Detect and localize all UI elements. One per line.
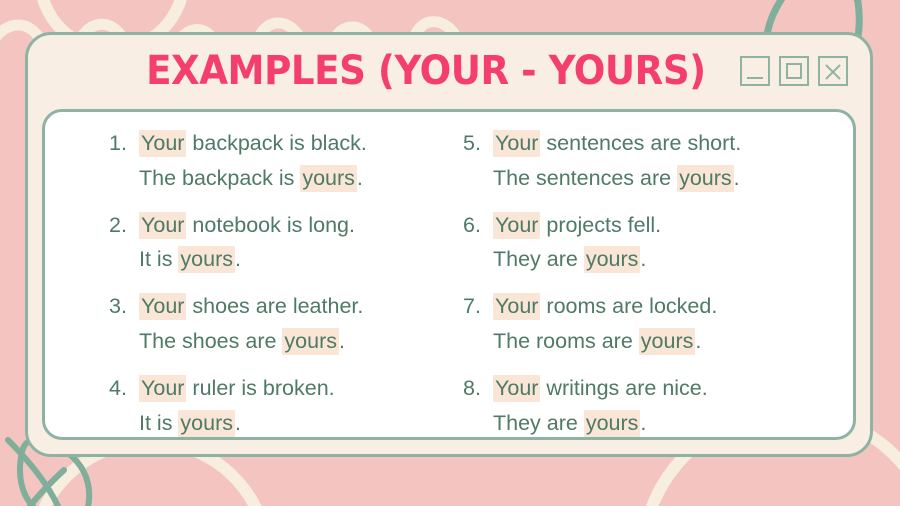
sentence-text: backpack is black. bbox=[186, 131, 366, 155]
example-line1: Your backpack is black. bbox=[139, 126, 445, 161]
highlighted-word: Your bbox=[139, 293, 186, 320]
highlighted-word: yours bbox=[639, 328, 696, 355]
example-line1: Your notebook is long. bbox=[139, 208, 445, 243]
example-item: 7.Your rooms are locked.The rooms are yo… bbox=[463, 289, 831, 359]
highlighted-word: yours bbox=[300, 165, 357, 192]
app-window: EXAMPLES (YOUR - YOURS) 1.Your backpack … bbox=[25, 32, 873, 457]
example-item: 1.Your backpack is black.The backpack is… bbox=[109, 126, 445, 196]
highlighted-word: yours bbox=[584, 246, 641, 273]
sentence-text: The rooms are bbox=[493, 329, 639, 353]
sentence-text: . bbox=[695, 329, 701, 353]
sentence-text: writings are nice. bbox=[540, 376, 707, 400]
window-titlebar: EXAMPLES (YOUR - YOURS) bbox=[28, 35, 870, 109]
example-line1: Your rooms are locked. bbox=[493, 289, 831, 324]
minimize-icon[interactable] bbox=[740, 56, 770, 86]
sentence-text: . bbox=[235, 247, 241, 271]
sentence-text: . bbox=[339, 329, 345, 353]
window-controls bbox=[740, 56, 848, 88]
highlighted-word: yours bbox=[584, 410, 641, 437]
examples-columns: 1.Your backpack is black.The backpack is… bbox=[63, 126, 835, 427]
example-line2: It is yours. bbox=[139, 242, 445, 277]
example-line2: They are yours. bbox=[493, 242, 831, 277]
example-number: 6. bbox=[463, 208, 481, 243]
example-line1: Your projects fell. bbox=[493, 208, 831, 243]
highlighted-word: yours bbox=[282, 328, 339, 355]
example-item: 8.Your writings are nice.They are yours. bbox=[463, 371, 831, 440]
example-line1: Your writings are nice. bbox=[493, 371, 831, 406]
sentence-text: . bbox=[734, 166, 740, 190]
example-item: 2.Your notebook is long.It is yours. bbox=[109, 208, 445, 278]
sentence-text: The shoes are bbox=[139, 329, 282, 353]
maximize-icon[interactable] bbox=[779, 56, 809, 86]
sentence-text: ruler is broken. bbox=[186, 376, 334, 400]
highlighted-word: Your bbox=[493, 375, 540, 402]
sentence-text: It is bbox=[139, 247, 178, 271]
highlighted-word: Your bbox=[493, 130, 540, 157]
sentence-text: sentences are short. bbox=[540, 131, 741, 155]
sentence-text: It is bbox=[139, 411, 178, 435]
highlighted-word: Your bbox=[139, 130, 186, 157]
sentence-text: They are bbox=[493, 247, 584, 271]
example-number: 4. bbox=[109, 371, 127, 406]
example-number: 5. bbox=[463, 126, 481, 161]
example-line1: Your ruler is broken. bbox=[139, 371, 445, 406]
close-icon[interactable] bbox=[818, 56, 848, 86]
page-title: EXAMPLES (YOUR - YOURS) bbox=[80, 51, 716, 94]
sentence-text: The backpack is bbox=[139, 166, 300, 190]
highlighted-word: Your bbox=[139, 375, 186, 402]
example-line1: Your shoes are leather. bbox=[139, 289, 445, 324]
example-line2: The sentences are yours. bbox=[493, 161, 831, 196]
highlighted-word: yours bbox=[677, 165, 734, 192]
slide-canvas: EXAMPLES (YOUR - YOURS) 1.Your backpack … bbox=[0, 0, 900, 506]
highlighted-word: yours bbox=[178, 410, 235, 437]
sentence-text: notebook is long. bbox=[186, 213, 355, 237]
examples-column-left: 1.Your backpack is black.The backpack is… bbox=[63, 126, 449, 427]
example-line2: It is yours. bbox=[139, 406, 445, 440]
example-line2: They are yours. bbox=[493, 406, 831, 440]
sentence-text: . bbox=[357, 166, 363, 190]
example-item: 5.Your sentences are short.The sentences… bbox=[463, 126, 831, 196]
example-number: 1. bbox=[109, 126, 127, 161]
example-item: 6.Your projects fell.They are yours. bbox=[463, 208, 831, 278]
example-line2: The rooms are yours. bbox=[493, 324, 831, 359]
example-item: 4.Your ruler is broken.It is yours. bbox=[109, 371, 445, 440]
example-item: 3.Your shoes are leather.The shoes are y… bbox=[109, 289, 445, 359]
sentence-text: projects fell. bbox=[540, 213, 661, 237]
highlighted-word: yours bbox=[178, 246, 235, 273]
example-number: 8. bbox=[463, 371, 481, 406]
sentence-text: They are bbox=[493, 411, 584, 435]
example-number: 7. bbox=[463, 289, 481, 324]
highlighted-word: Your bbox=[493, 212, 540, 239]
sentence-text: shoes are leather. bbox=[186, 294, 363, 318]
sentence-text: . bbox=[640, 411, 646, 435]
example-line1: Your sentences are short. bbox=[493, 126, 831, 161]
example-line2: The backpack is yours. bbox=[139, 161, 445, 196]
sentence-text: . bbox=[640, 247, 646, 271]
example-number: 3. bbox=[109, 289, 127, 324]
example-line2: The shoes are yours. bbox=[139, 324, 445, 359]
example-number: 2. bbox=[109, 208, 127, 243]
sentence-text: The sentences are bbox=[493, 166, 677, 190]
sentence-text: . bbox=[235, 411, 241, 435]
highlighted-word: Your bbox=[493, 293, 540, 320]
highlighted-word: Your bbox=[139, 212, 186, 239]
sentence-text: rooms are locked. bbox=[540, 294, 717, 318]
examples-column-right: 5.Your sentences are short.The sentences… bbox=[449, 126, 835, 427]
content-panel: 1.Your backpack is black.The backpack is… bbox=[42, 109, 856, 440]
